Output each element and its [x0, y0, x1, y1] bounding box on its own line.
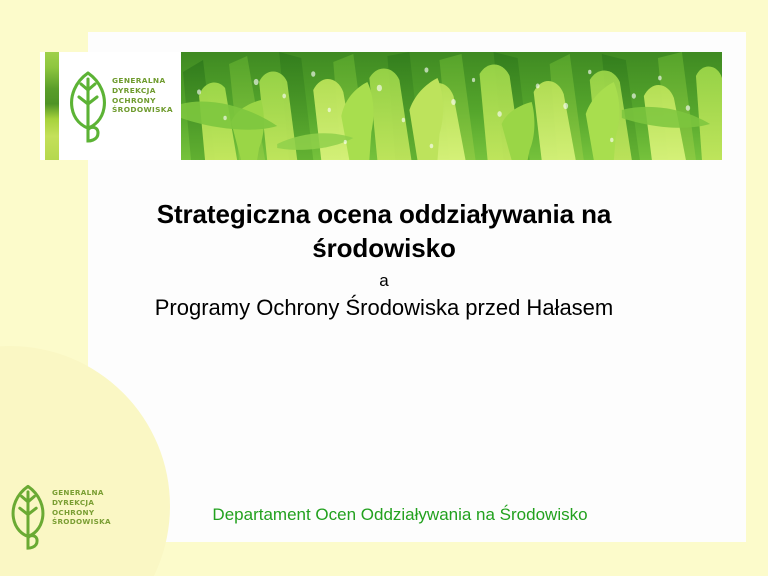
leaf-tree-logo-icon: [66, 66, 110, 146]
presentation-slide: GENERALNA DYREKCJA OCHRONY ŚRODOWISKA: [0, 0, 768, 576]
logo-line-2: DYREKCJA: [112, 86, 173, 96]
footer-logo: GENERALNA DYREKCJA OCHRONY ŚRODOWISKA: [8, 478, 113, 550]
slide-title-line-1: Strategiczna ocena oddziaływania na: [64, 198, 704, 232]
slide-subtitle: Programy Ochrony Środowiska przed Hałase…: [64, 294, 704, 323]
header-logo-wordmark: GENERALNA DYREKCJA OCHRONY ŚRODOWISKA: [112, 76, 173, 115]
title-conjunction: a: [64, 268, 704, 294]
footer-department-text: Departament Ocen Oddziaływania na Środow…: [120, 505, 680, 525]
footer-logo-line-1: GENERALNA: [52, 488, 111, 498]
logo-green-strip-icon: [45, 52, 59, 160]
logo-line-4: ŚRODOWISKA: [112, 105, 173, 115]
footer-logo-line-4: ŚRODOWISKA: [52, 517, 111, 527]
slide-title-line-2: środowisko: [64, 232, 704, 266]
footer-logo-line-3: OCHRONY: [52, 508, 111, 518]
leaf-tree-logo-icon: [8, 480, 48, 548]
footer-logo-line-2: DYREKCJA: [52, 498, 111, 508]
slide-title: Strategiczna ocena oddziaływania na środ…: [64, 198, 704, 266]
title-block: Strategiczna ocena oddziaływania na środ…: [64, 198, 704, 323]
logo-line-1: GENERALNA: [112, 76, 173, 86]
logo-line-3: OCHRONY: [112, 96, 173, 106]
header-logo-box: GENERALNA DYREKCJA OCHRONY ŚRODOWISKA: [40, 52, 181, 160]
header-band: GENERALNA DYREKCJA OCHRONY ŚRODOWISKA: [40, 52, 722, 160]
grass-leaves-photo: [181, 52, 722, 160]
footer-logo-wordmark: GENERALNA DYREKCJA OCHRONY ŚRODOWISKA: [52, 488, 111, 527]
